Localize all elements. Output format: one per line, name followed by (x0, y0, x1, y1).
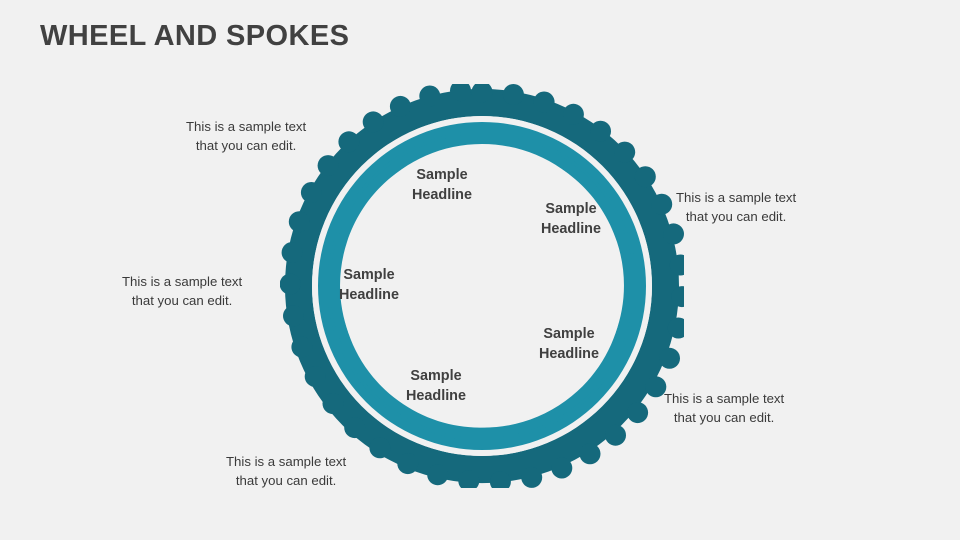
callout-top-left-line1: This is a sample text (186, 117, 306, 136)
callout-bottom-left-line1: This is a sample text (226, 452, 346, 471)
segment-headline-3-line2: Headline (376, 386, 496, 406)
segment-headline-0: Sample Headline (382, 165, 502, 206)
callout-right: This is a sample text that you can edit. (676, 188, 796, 226)
segment-headline-1-line1: Sample (511, 199, 631, 219)
segment-headline-0-line1: Sample (382, 165, 502, 185)
segment-headline-3-line1: Sample (376, 366, 496, 386)
segment-headline-4: Sample Headline (309, 265, 429, 306)
wheel-hub[interactable] (465, 269, 500, 304)
callout-bottom-right-line1: This is a sample text (664, 389, 784, 408)
segment-headline-2-line1: Sample (509, 324, 629, 344)
callout-top-left: This is a sample text that you can edit. (186, 117, 306, 155)
callout-bottom-right: This is a sample text that you can edit. (664, 389, 784, 427)
callout-right-line1: This is a sample text (676, 188, 796, 207)
segment-headline-0-line2: Headline (382, 185, 502, 205)
segment-headline-3: Sample Headline (376, 366, 496, 407)
slide-canvas: WHEEL AND SPOKES (0, 0, 960, 540)
segment-headline-1: Sample Headline (511, 199, 631, 240)
segment-headline-2-line2: Headline (509, 344, 629, 364)
callout-bottom-left: This is a sample text that you can edit. (226, 452, 346, 490)
segment-headline-1-line2: Headline (511, 219, 631, 239)
segment-headline-4-line2: Headline (309, 285, 429, 305)
callout-bottom-right-line2: that you can edit. (664, 408, 784, 427)
segment-headline-2: Sample Headline (509, 324, 629, 365)
callout-left-line2: that you can edit. (122, 291, 242, 310)
segment-headline-4-line1: Sample (309, 265, 429, 285)
callout-bottom-left-line2: that you can edit. (226, 471, 346, 490)
callout-left-line1: This is a sample text (122, 272, 242, 291)
callout-left: This is a sample text that you can edit. (122, 272, 242, 310)
page-title: WHEEL AND SPOKES (40, 20, 349, 53)
callout-top-left-line2: that you can edit. (186, 136, 306, 155)
callout-right-line2: that you can edit. (676, 207, 796, 226)
